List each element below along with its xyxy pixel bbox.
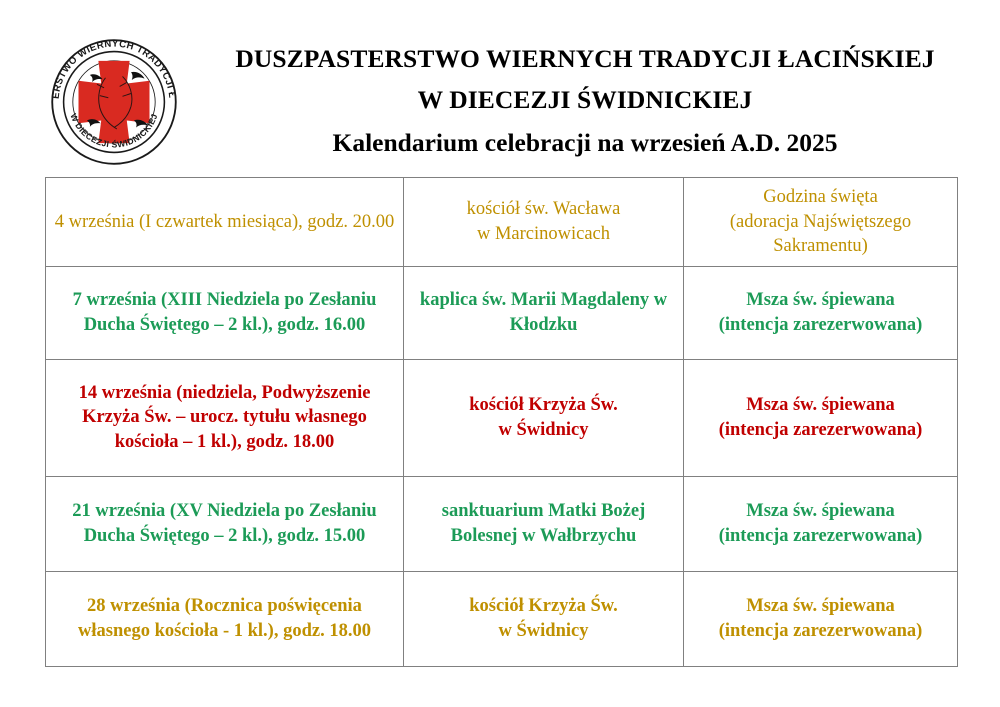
cell-when: 4 września (I czwartek miesiąca), godz. … xyxy=(46,178,404,267)
document-page: DUSZPASTERSTWO WIERNYCH TRADYCJI ŁACIŃSK… xyxy=(0,0,1000,707)
page-title-line-1: DUSZPASTERSTWO WIERNYCH TRADYCJI ŁACIŃSK… xyxy=(190,38,980,79)
cell-where: sanktuarium Matki Bożej Bolesnej w Wałbr… xyxy=(404,476,684,571)
page-subtitle: Kalendarium celebracji na wrzesień A.D. … xyxy=(190,120,980,166)
document-header: DUSZPASTERSTWO WIERNYCH TRADYCJI ŁACIŃSK… xyxy=(0,0,1000,177)
cell-when: 28 września (Rocznica poświęcenia własne… xyxy=(46,571,404,666)
table-row: 4 września (I czwartek miesiąca), godz. … xyxy=(46,178,958,267)
table-row: 21 września (XV Niedziela po Zesłaniu Du… xyxy=(46,476,958,571)
table-row: 14 września (niedziela, Podwyższenie Krz… xyxy=(46,359,958,476)
cell-where: kościół Krzyża Św.w Świdnicy xyxy=(404,359,684,476)
calendar-table-body: 4 września (I czwartek miesiąca), godz. … xyxy=(46,178,958,667)
cell-where: kościół Krzyża Św.w Świdnicy xyxy=(404,571,684,666)
cell-when: 7 września (XIII Niedziela po Zesłaniu D… xyxy=(46,266,404,359)
latin-tradition-seal-logo: DUSZPASTERSTWO WIERNYCH TRADYCJI ŁACIŃSK… xyxy=(43,31,185,173)
cell-where: kościół św. Wacławaw Marcinowicach xyxy=(404,178,684,267)
cell-when: 21 września (XV Niedziela po Zesłaniu Du… xyxy=(46,476,404,571)
cell-what: Msza św. śpiewana(intencja zarezerwowana… xyxy=(684,476,958,571)
page-title-line-2: W DIECEZJI ŚWIDNICKIEJ xyxy=(190,79,980,120)
table-row: 7 września (XIII Niedziela po Zesłaniu D… xyxy=(46,266,958,359)
table-row: 28 września (Rocznica poświęcenia własne… xyxy=(46,571,958,666)
cell-what: Msza św. śpiewana(intencja zarezerwowana… xyxy=(684,359,958,476)
title-block: DUSZPASTERSTWO WIERNYCH TRADYCJI ŁACIŃSK… xyxy=(190,38,980,166)
cell-what: Msza św. śpiewana(intencja zarezerwowana… xyxy=(684,266,958,359)
cell-where: kaplica św. Marii Magdaleny w Kłodzku xyxy=(404,266,684,359)
cell-what: Msza św. śpiewana(intencja zarezerwowana… xyxy=(684,571,958,666)
celebration-calendar-table: 4 września (I czwartek miesiąca), godz. … xyxy=(45,177,958,667)
cell-when: 14 września (niedziela, Podwyższenie Krz… xyxy=(46,359,404,476)
cell-what: Godzina święta(adoracja Najświętszego Sa… xyxy=(684,178,958,267)
